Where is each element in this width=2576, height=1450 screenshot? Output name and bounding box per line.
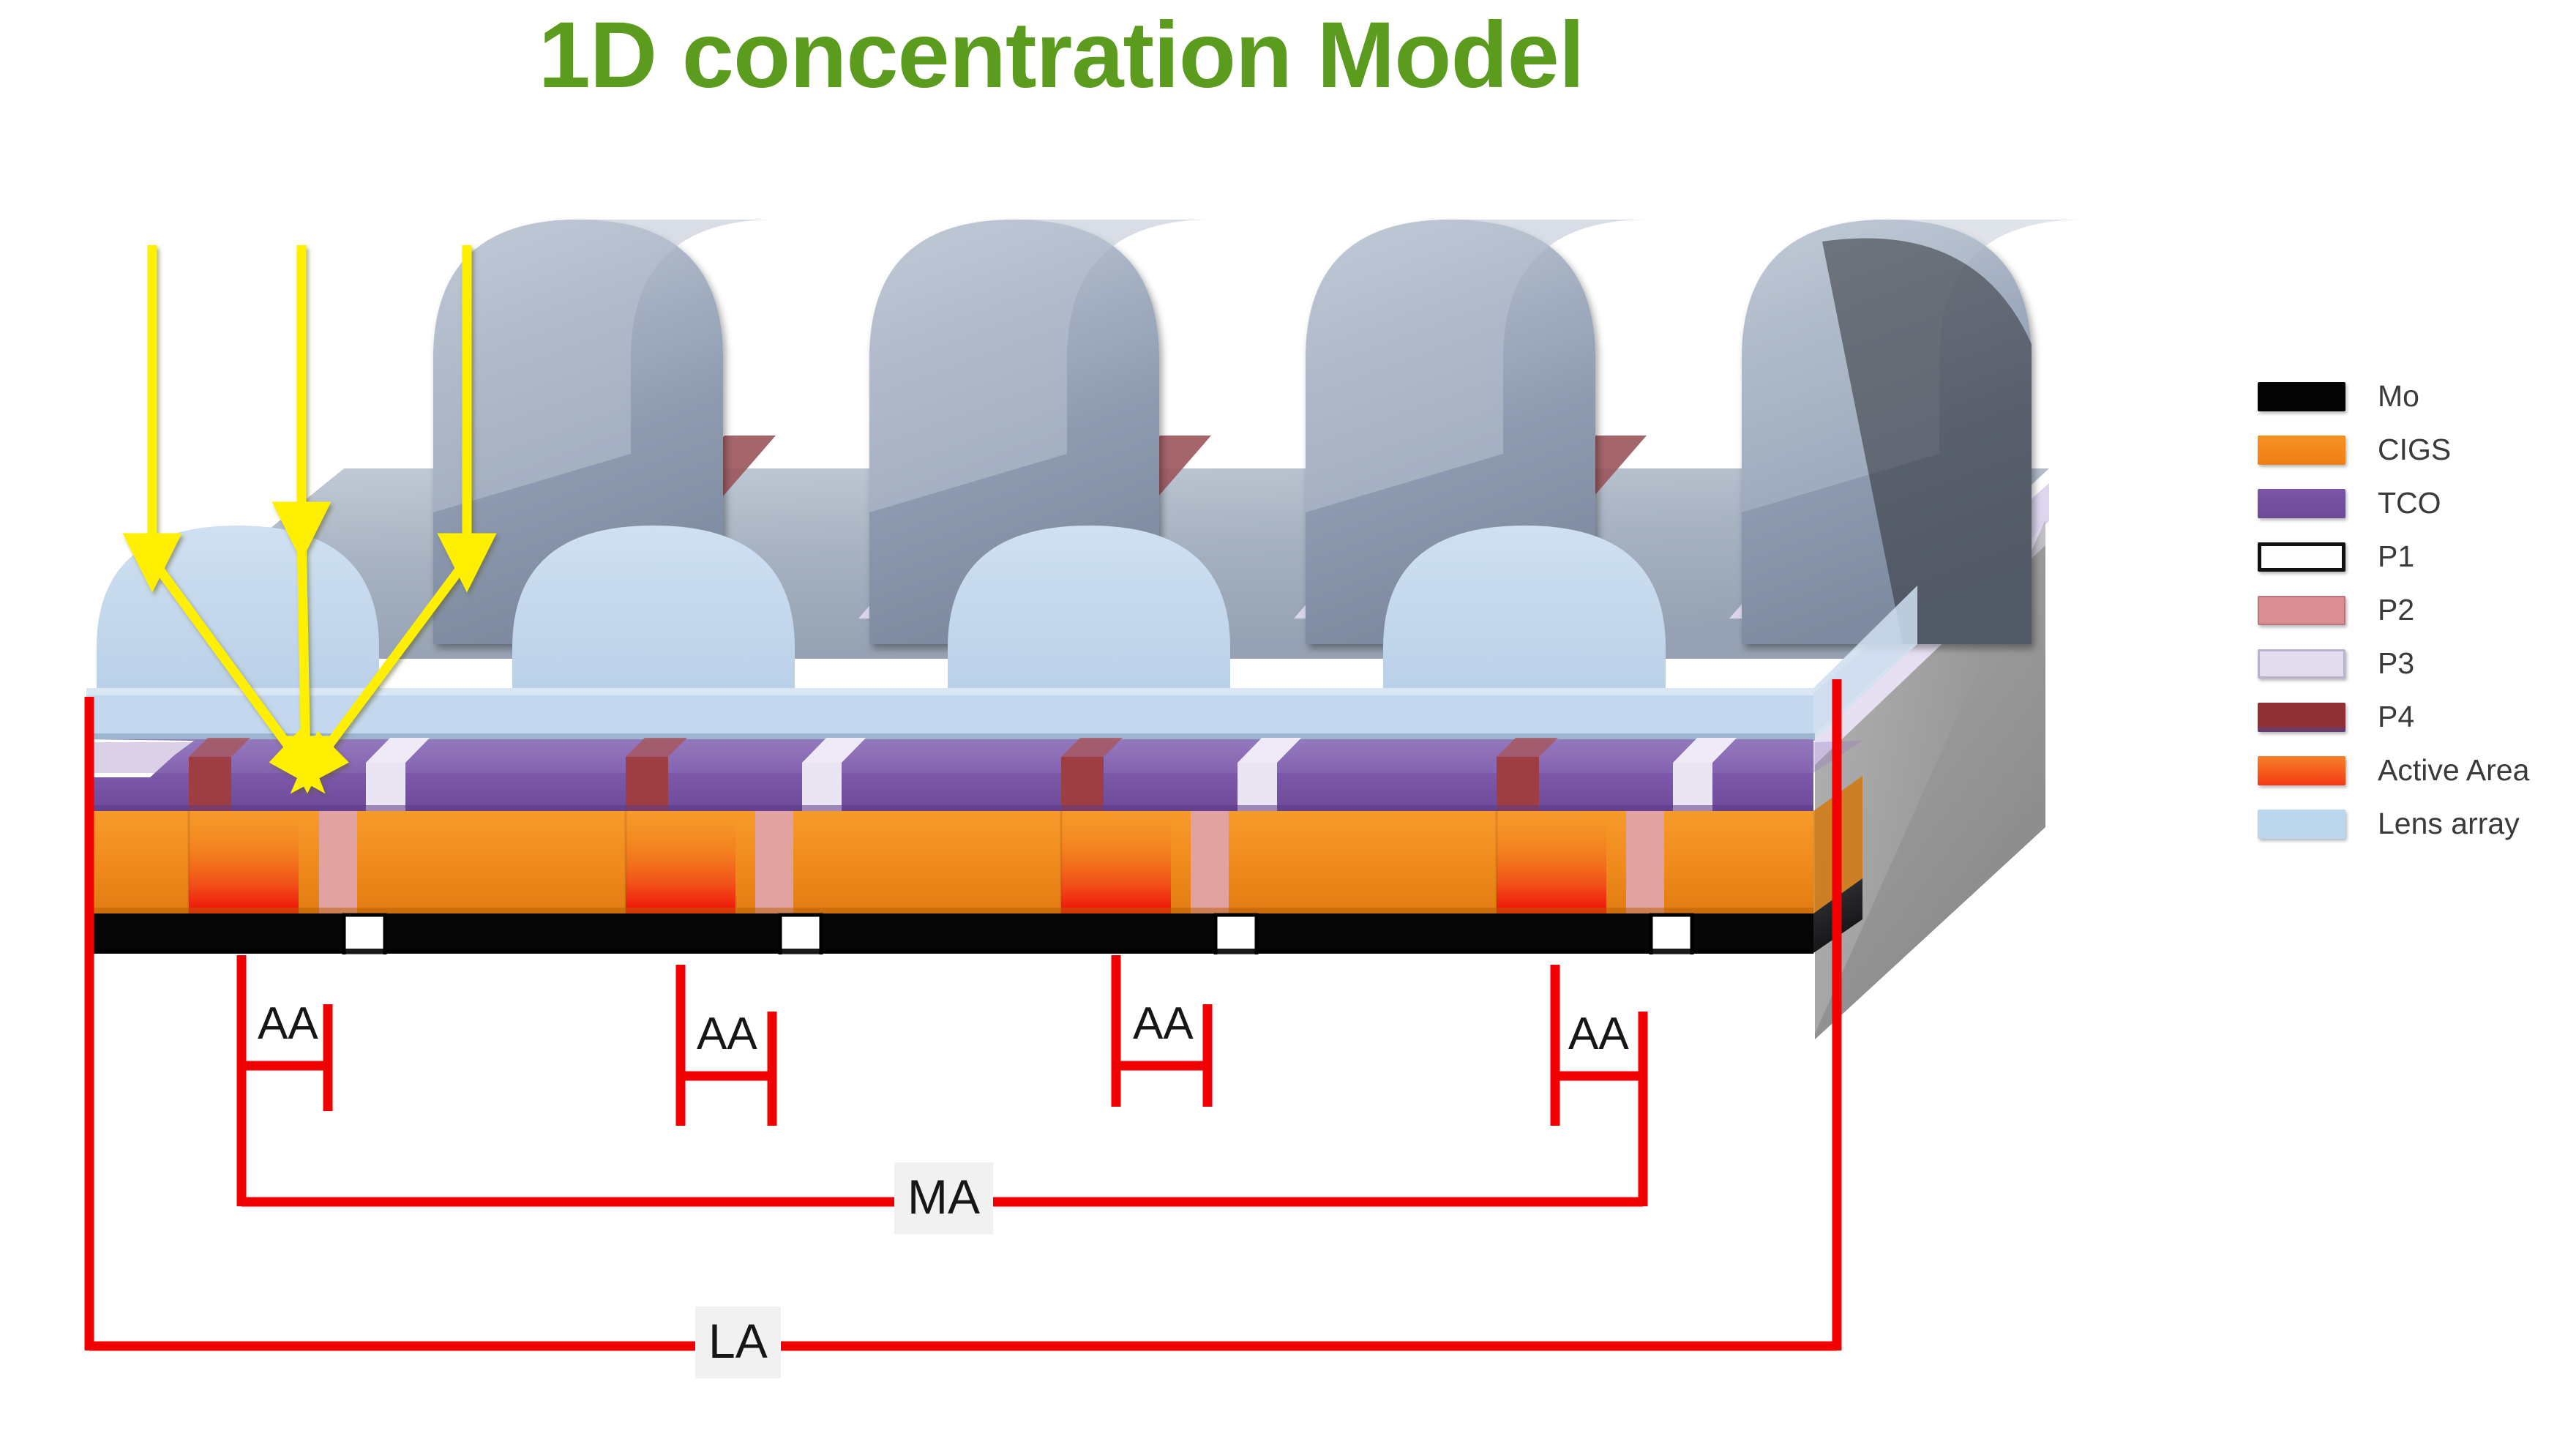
legend-swatch-mo bbox=[2258, 382, 2345, 411]
legend-item-p1: P1 bbox=[2258, 530, 2565, 583]
legend-label-tco: TCO bbox=[2378, 486, 2441, 520]
legend-swatch-p4 bbox=[2258, 703, 2345, 732]
legend-swatch-active-area bbox=[2258, 756, 2345, 785]
legend-swatch-p3 bbox=[2258, 649, 2345, 679]
legend-item-tco: TCO bbox=[2258, 477, 2565, 530]
legend-label-lens-array: Lens array bbox=[2378, 807, 2520, 841]
legend: Mo CIGS TCO P1 P2 P3 P4 Active Area Lens… bbox=[2258, 370, 2565, 851]
ma-label: MA bbox=[894, 1162, 993, 1234]
concentrator-module-diagram bbox=[0, 0, 2576, 1450]
legend-swatch-tco bbox=[2258, 489, 2345, 518]
legend-item-p2: P2 bbox=[2258, 583, 2565, 637]
legend-item-cigs: CIGS bbox=[2258, 423, 2565, 477]
legend-swatch-p1 bbox=[2258, 542, 2345, 572]
legend-swatch-cigs bbox=[2258, 436, 2345, 465]
aa-label-2: AA bbox=[697, 1012, 757, 1057]
aa-label-3: AA bbox=[1133, 1001, 1194, 1047]
legend-label-mo: Mo bbox=[2378, 379, 2419, 414]
legend-item-p3: P3 bbox=[2258, 637, 2565, 690]
legend-item-lens-array: Lens array bbox=[2258, 797, 2565, 851]
legend-label-p2: P2 bbox=[2378, 593, 2414, 627]
legend-label-active-area: Active Area bbox=[2378, 753, 2529, 788]
legend-item-active-area: Active Area bbox=[2258, 744, 2565, 797]
legend-swatch-lens-array bbox=[2258, 810, 2345, 839]
legend-label-p1: P1 bbox=[2378, 539, 2414, 574]
aa-label-4: AA bbox=[1568, 1012, 1629, 1057]
legend-swatch-p2 bbox=[2258, 596, 2345, 625]
la-label: LA bbox=[695, 1307, 781, 1378]
legend-item-mo: Mo bbox=[2258, 370, 2565, 423]
aa-label-1: AA bbox=[258, 1001, 318, 1047]
legend-label-p3: P3 bbox=[2378, 646, 2414, 681]
layer-tco bbox=[86, 644, 1917, 812]
legend-label-p4: P4 bbox=[2378, 700, 2414, 734]
legend-label-cigs: CIGS bbox=[2378, 433, 2451, 467]
legend-item-p4: P4 bbox=[2258, 690, 2565, 744]
